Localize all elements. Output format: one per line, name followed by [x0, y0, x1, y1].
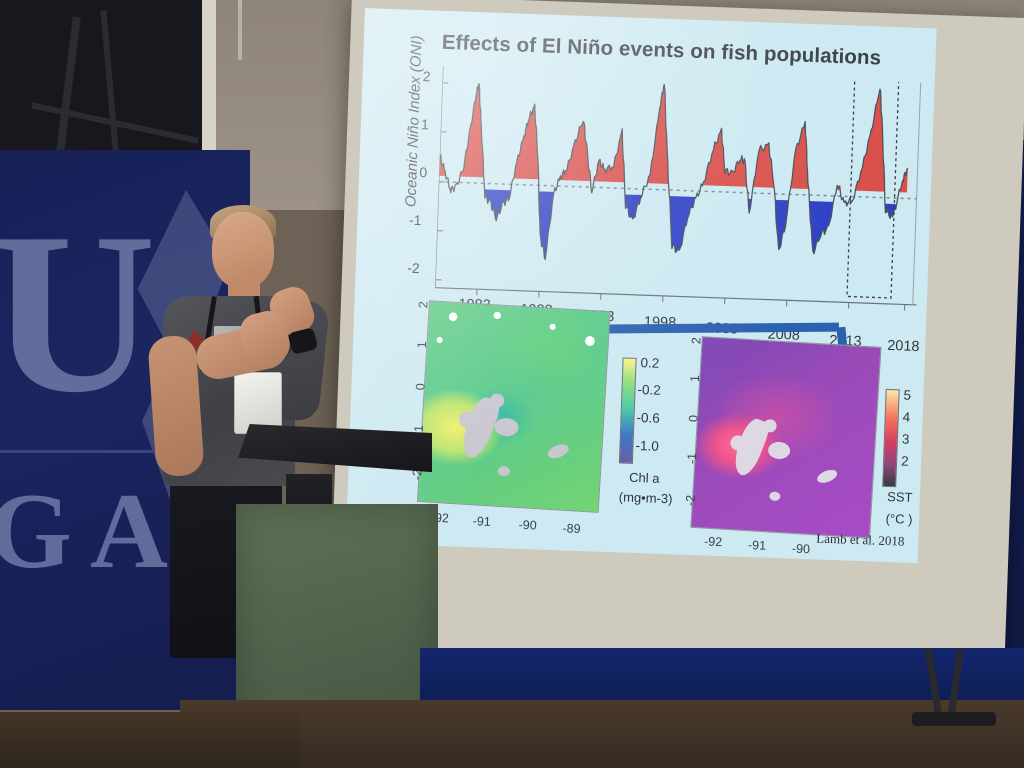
sst-lon-neg92: -92: [704, 534, 723, 549]
sst-map: [690, 336, 881, 538]
chlorophyll-map: [417, 300, 611, 513]
oni-ytick-2: 2: [406, 68, 431, 85]
oni-ytick-neg2: -2: [395, 259, 420, 276]
speaker-head: [212, 212, 274, 288]
sst-cbar-units: (°C ): [873, 511, 926, 528]
chl-lon-neg89: -89: [562, 521, 581, 536]
chl-lon-neg91: -91: [472, 514, 491, 529]
sst-lat-2: 2: [689, 337, 703, 344]
chl-lat-0: 0: [413, 383, 427, 390]
sst-cbar-title: SST: [876, 489, 925, 506]
sst-lat-neg2: -2: [683, 495, 697, 507]
cloud-mask-patches: [431, 306, 606, 364]
chl-lat-1: 1: [415, 341, 429, 348]
oni-ytick-neg1: -1: [397, 211, 422, 228]
island-santa-cruz: [494, 417, 519, 436]
sst-lat-0: 0: [686, 415, 700, 422]
island-santiago: [763, 419, 777, 433]
chl-lat-2: 2: [416, 301, 430, 308]
island-santiago: [490, 393, 505, 408]
oni-plot-area: [435, 66, 925, 315]
sst-lat-1: 1: [688, 375, 702, 382]
island-floreana: [769, 491, 781, 501]
chl-cbar-tick-0: 0.2: [640, 355, 659, 371]
sst-lat-neg1: -1: [685, 453, 699, 465]
island-san-cristobal: [546, 442, 571, 461]
island-floreana: [498, 466, 511, 477]
sst-colorbar: [882, 389, 899, 487]
sst-lon-neg90: -90: [792, 542, 811, 557]
sst-cbar-tick-3: 3: [902, 431, 910, 446]
truss-cable: [238, 0, 242, 60]
oni-ytick-1: 1: [405, 116, 430, 133]
floor-foreground: [0, 712, 300, 768]
chl-lon-neg90: -90: [518, 518, 537, 533]
chl-cbar-title: Chl a: [616, 469, 673, 486]
island-san-cristobal: [815, 467, 839, 485]
sst-cbar-tick-2: 2: [901, 453, 909, 468]
island-santa-cruz: [768, 441, 791, 459]
chl-cbar-tick-1: -0.2: [637, 382, 661, 398]
backdrop-letter-u: U: [0, 180, 156, 445]
sst-cbar-tick-4: 4: [902, 410, 910, 425]
chl-cbar-tick-2: -0.6: [636, 410, 660, 426]
chl-cbar-units: (mg•m-3): [607, 489, 683, 507]
slide-citation: Lamb et al. 2018: [816, 530, 905, 549]
sst-cbar-tick-5: 5: [903, 388, 911, 403]
chl-colorbar: [619, 357, 637, 463]
floor: [180, 700, 1024, 768]
screen-tripod-base: [912, 712, 996, 726]
sst-lon-neg91: -91: [748, 538, 767, 553]
projected-slide: Effects of El Niño events on fish popula…: [346, 8, 937, 563]
oni-ytick-0: 0: [403, 163, 428, 180]
presentation-photo: U GAL Effects of El Niño events on fish …: [0, 0, 1024, 768]
chl-cbar-tick-3: -1.0: [635, 438, 659, 454]
